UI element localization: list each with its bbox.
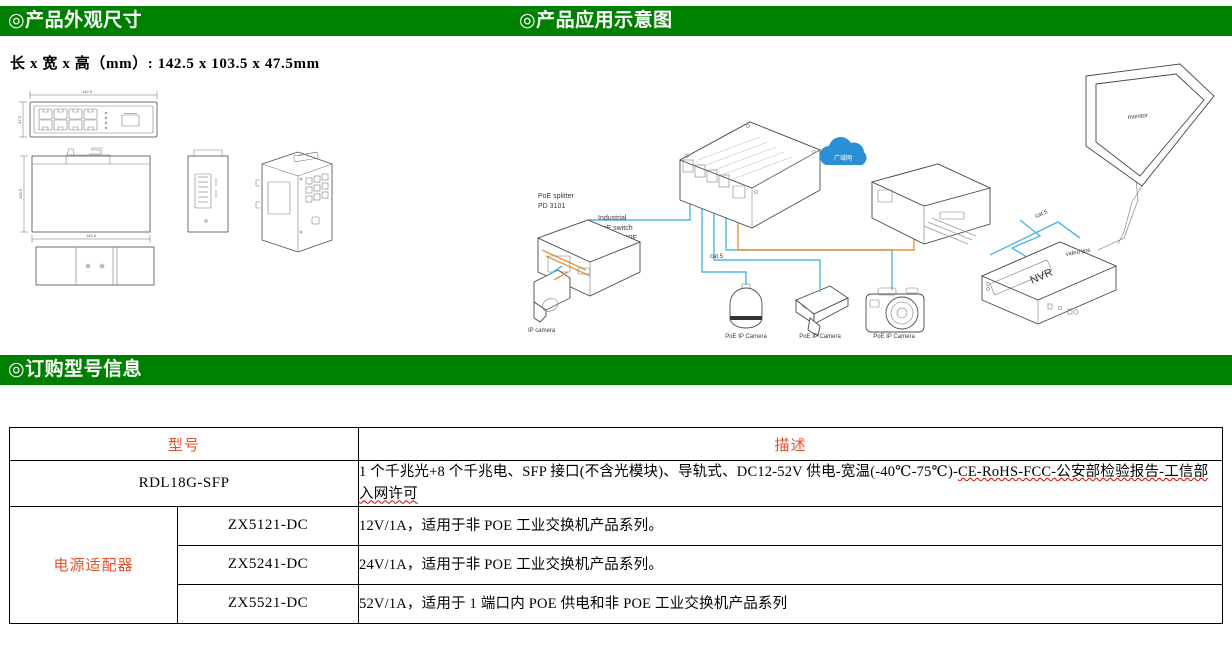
table-row: ZX5521-DC 52V/1A，适用于 1 端口内 POE 供电和非 POE …	[10, 584, 1223, 623]
terminal-side-view	[188, 150, 228, 232]
cell-description-2: 24V/1A，适用于非 POE 工业交换机产品系列。	[359, 545, 1223, 584]
table-row: RDL18G-SFP 1 个千兆光+8 个千兆电、SFP 接口(不含光模块)、导…	[10, 461, 1223, 507]
table-row: ZX5241-DC 24V/1A，适用于非 POE 工业交换机产品系列。	[10, 545, 1223, 584]
label-ip-camera: IP camera	[528, 328, 556, 334]
cell-model-2: ZX5241-DC	[178, 545, 359, 584]
svg-text:103.5: 103.5	[18, 188, 23, 199]
isometric-view	[256, 152, 332, 252]
media-converter	[872, 164, 990, 244]
section-title-appearance: ◎产品外观尺寸	[8, 8, 142, 34]
section-title-application: ◎产品应用示意图	[519, 8, 673, 34]
table-row: 电源适配器 ZX5121-DC 12V/1A，适用于非 POE 工业交换机产品系…	[10, 506, 1223, 545]
label-splitter-line1: PoE splitter	[538, 193, 574, 200]
svg-text:142.5: 142.5	[82, 89, 93, 94]
section-header-bar-top: ◎产品外观尺寸 ◎产品应用示意图	[0, 6, 1232, 36]
product-dimension-drawing: 142.5 47.5	[10, 82, 480, 332]
cell-model-3: ZX5521-DC	[178, 584, 359, 623]
poe-dome-camera	[730, 284, 762, 328]
label-switch-line1: Industrial	[598, 215, 627, 222]
poe-dslr-camera	[866, 285, 924, 332]
label-cloud: 广域网	[834, 154, 852, 162]
label-poe-camera-3: PoE IP Camera	[873, 334, 915, 340]
cell-description-1: 12V/1A，适用于非 POE 工业交换机产品系列。	[359, 506, 1223, 545]
dimension-width-top: 142.5	[30, 89, 157, 99]
description-plain-0: 1 个千兆光+8 个千兆电、SFP 接口(不含光模块)、导轨式、DC12-52V…	[359, 464, 958, 480]
dimension-width-bottom: 142.5	[32, 233, 150, 243]
section-header-titles: ◎产品外观尺寸 ◎产品应用示意图	[0, 6, 1232, 36]
label-splitter-line2: PD 3101	[538, 203, 565, 210]
section-header-bar-ordering: ◎订购型号信息	[0, 355, 1232, 385]
cell-model-1: ZX5121-DC	[178, 506, 359, 545]
dimension-height-side: 103.5	[18, 156, 28, 232]
poe-bullet-camera	[796, 285, 848, 336]
label-poe-camera-2: PoE IP Camera	[799, 334, 841, 340]
ordering-info-table: 型号 描述 RDL18G-SFP 1 个千兆光+8 个千兆电、SFP 接口(不含…	[9, 427, 1223, 624]
cell-model-0: RDL18G-SFP	[10, 461, 359, 507]
label-poe-camera-1: PoE IP Camera	[725, 334, 767, 340]
ip-camera-device: IP camera	[528, 266, 570, 334]
cell-group-power-adapter: 电源适配器	[10, 506, 178, 623]
din-rail-clip	[67, 148, 110, 155]
column-header-model: 型号	[10, 428, 359, 461]
cell-description-3: 52V/1A，适用于 1 端口内 POE 供电和非 POE 工业交换机产品系列	[359, 584, 1223, 623]
column-header-description: 描述	[359, 428, 1223, 461]
label-cat5-right: cat.5	[1034, 209, 1049, 220]
table-header-row: 型号 描述	[10, 428, 1223, 461]
svg-text:47.5: 47.5	[17, 115, 22, 124]
svg-text:142.5: 142.5	[86, 233, 97, 238]
industrial-poe-switch	[680, 122, 820, 228]
section-title-ordering: ◎订购型号信息	[8, 357, 142, 383]
monitor-device: monitor	[1086, 64, 1214, 244]
label-cat5-mid: cat.5	[710, 254, 724, 260]
dimension-text: 长 x 宽 x 高（mm）: 142.5 x 103.5 x 47.5mm	[10, 52, 320, 73]
dimension-height-front: 47.5	[17, 102, 27, 137]
nvr-device: NVR	[982, 242, 1116, 324]
cell-description-0: 1 个千兆光+8 个千兆电、SFP 接口(不含光模块)、导轨式、DC12-52V…	[359, 461, 1223, 507]
wan-cloud-icon: 广域网	[820, 137, 867, 165]
application-topology-diagram: Industrial PoE switch IP533054PF 广域网	[520, 60, 1230, 340]
